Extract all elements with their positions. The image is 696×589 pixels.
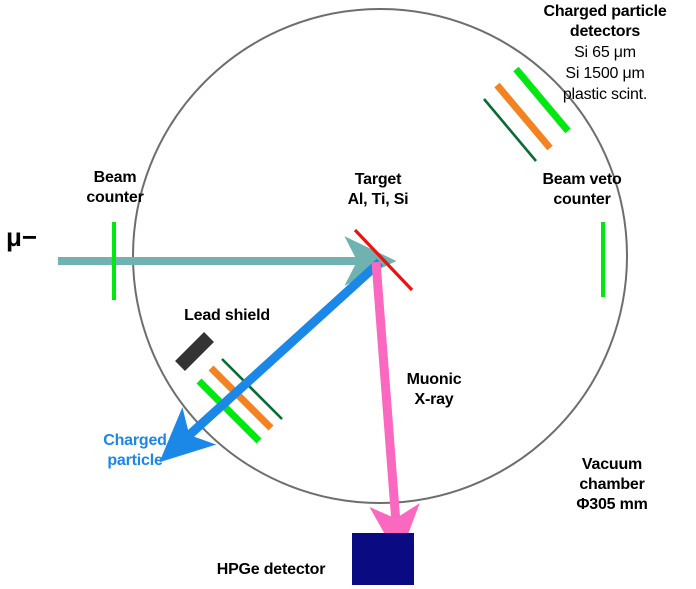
hpge-detector-box (352, 533, 414, 585)
detector-bar-plastic-scint-upper (484, 99, 536, 161)
beam-counter-label: Beam counter (60, 168, 170, 208)
detector-layer-si1500: Si 1500 μm (516, 64, 694, 84)
charged-particle-label: Charged particle (75, 431, 195, 471)
target-label: Target Al, Ti, Si (318, 170, 438, 210)
beam-veto-counter-label: Beam veto counter (512, 170, 652, 210)
lower-left-detector-stack (199, 359, 282, 441)
beam-particle-label: μ− (6, 224, 52, 250)
hpge-detector-label: HPGe detector (196, 560, 346, 580)
detector-layer-si65: Si 65 μm (516, 43, 694, 63)
lead-shield-bar (180, 337, 209, 366)
muonic-xray-label: Muonic X-ray (388, 370, 480, 410)
lead-shield-label: Lead shield (162, 306, 292, 326)
detector-layer-plastic-scint: plastic scint. (516, 85, 694, 105)
diagram-canvas: μ− Beam counter Target Al, Ti, Si Charge… (0, 0, 696, 589)
vacuum-chamber-label: Vacuum chamber Φ305 mm (548, 455, 676, 515)
charged-particle-arrow (186, 262, 380, 438)
charged-particle-detectors-title: Charged particle detectors (516, 2, 694, 42)
